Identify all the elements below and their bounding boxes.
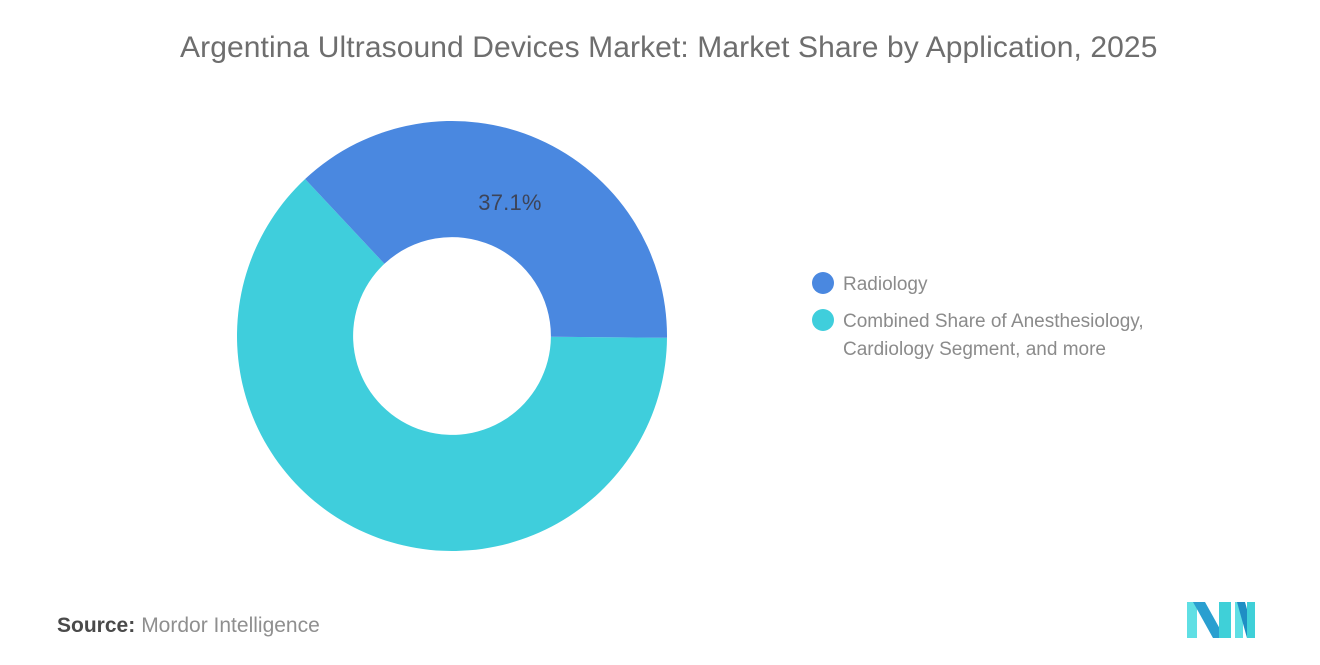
donut-slice-radiology[interactable] xyxy=(305,121,667,338)
legend-label-radiology: Radiology xyxy=(843,271,928,299)
page-title: Argentina Ultrasound Devices Market: Mar… xyxy=(180,28,1240,68)
logo-svg xyxy=(1185,598,1257,640)
source-line: Source:Mordor Intelligence xyxy=(57,611,320,641)
chart-legend: Radiology Combined Share of Anesthesiolo… xyxy=(812,271,1252,373)
source-label: Source: xyxy=(57,614,135,637)
legend-label-combined: Combined Share of Anesthesiology, Cardio… xyxy=(843,308,1213,364)
legend-item-combined[interactable]: Combined Share of Anesthesiology, Cardio… xyxy=(812,308,1252,364)
legend-swatch-icon-combined xyxy=(812,309,834,331)
legend-item-radiology[interactable]: Radiology xyxy=(812,271,1252,299)
mordor-intelligence-logo-icon xyxy=(1185,598,1257,640)
legend-swatch-icon-radiology xyxy=(812,272,834,294)
donut-chart-svg xyxy=(237,121,667,551)
donut-slice-label-radiology: 37.1% xyxy=(455,190,565,216)
chart-canvas: Argentina Ultrasound Devices Market: Mar… xyxy=(0,0,1320,665)
donut-chart xyxy=(237,121,667,551)
source-value: Mordor Intelligence xyxy=(141,614,320,637)
